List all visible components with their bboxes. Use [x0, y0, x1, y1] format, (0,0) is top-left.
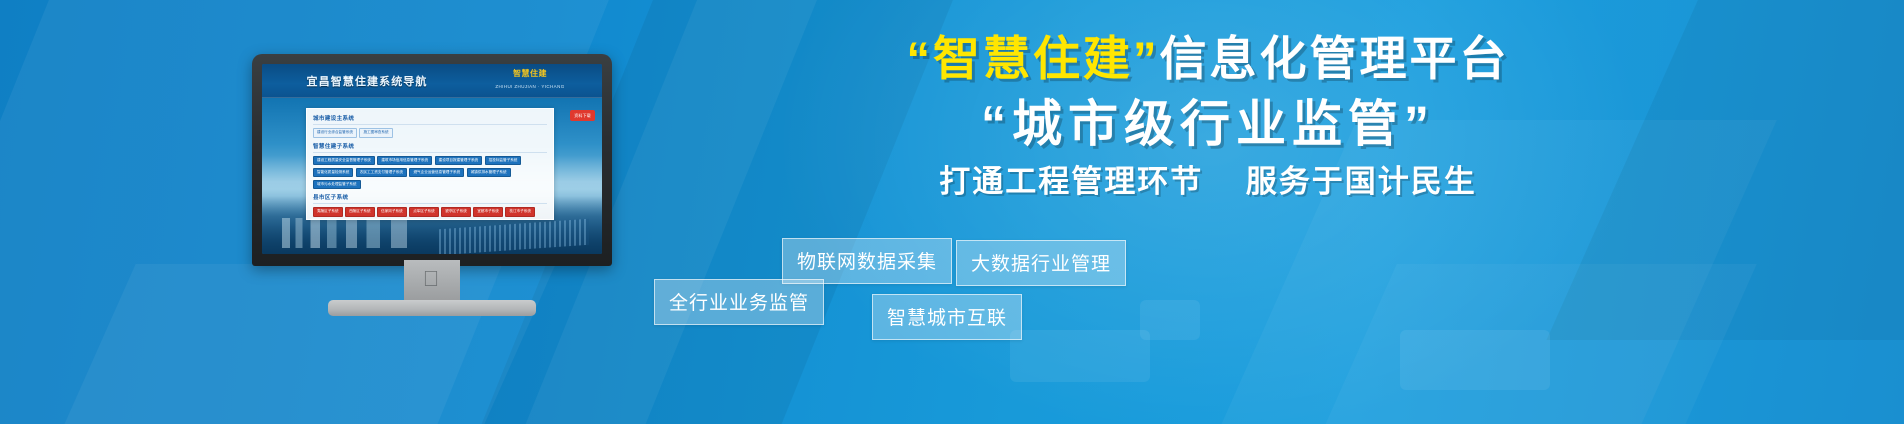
- screen-subsystem-chip[interactable]: 五峰县子系统: [473, 219, 503, 220]
- screen-subsystem-chip[interactable]: 西陵区子系统: [345, 207, 375, 217]
- screen-subsystem-chip[interactable]: 城市污水处理监管子系统: [313, 180, 361, 190]
- feature-tag-iot-data[interactable]: 物联网数据采集: [782, 238, 952, 284]
- screen-download-button[interactable]: 资料下载: [570, 110, 595, 121]
- screen-subsystem-chip[interactable]: 点军区子系统: [409, 207, 439, 217]
- headline-line-3-right: 服务于国计民生: [1246, 164, 1477, 199]
- monitor-stand-base: [328, 300, 536, 316]
- apple-logo-icon: : [420, 268, 442, 292]
- screen-subsystem-chip[interactable]: 宜都市子系统: [473, 207, 503, 217]
- promo-banner: 宜昌智慧住建系统导航 智慧住建 ZHIHUI ZHUJIAN · YICHANG…: [0, 0, 1904, 424]
- screen-subsystem-chip[interactable]: 长阳县子系统: [441, 219, 471, 220]
- monitor-screen: 宜昌智慧住建系统导航 智慧住建 ZHIHUI ZHUJIAN · YICHANG…: [262, 64, 602, 254]
- background-facet: [1263, 264, 1757, 424]
- screen-subsystem-chip[interactable]: 智能化质量检测系统: [313, 168, 353, 178]
- screen-subsystem-chip[interactable]: 兴山县子系统: [377, 219, 407, 220]
- feature-tag-industry-supervision[interactable]: 全行业业务监管: [654, 279, 824, 325]
- screen-subsystem-chip[interactable]: 枝江市子系统: [505, 207, 535, 217]
- headline-quote-close: ”: [1133, 32, 1160, 85]
- screen-subsystem-chip[interactable]: 城镇供排水管理子系统: [467, 168, 511, 178]
- screen-subsystem-chip[interactable]: 夷陵区子系统: [313, 207, 343, 217]
- screen-subsystem-chip[interactable]: 伍家岗子系统: [377, 207, 407, 217]
- background-soft-rect: [1140, 300, 1200, 340]
- screen-subsystem-chip[interactable]: 远安县子系统: [345, 219, 375, 220]
- background-soft-rect: [1010, 330, 1150, 382]
- screen-section-items: 建设行业综合监管系统施工图审查系统: [313, 128, 547, 138]
- background-soft-rect: [1400, 330, 1550, 390]
- screen-subsystem-chip[interactable]: 建筑市场信用信息管理子系统: [377, 156, 432, 166]
- screen-section-items: 夷陵区子系统西陵区子系统伍家岗子系统点军区子系统猇亭区子系统宜都市子系统枝江市子…: [313, 207, 547, 220]
- screen-subsystem-chip[interactable]: 猇亭区子系统: [441, 207, 471, 217]
- screen-sections-list: 城市建设主系统建设行业综合监管系统施工图审查系统智慧住建子系统建设工程质量安全监…: [313, 114, 547, 220]
- screen-section-title: 智慧住建子系统: [313, 142, 547, 153]
- feature-tag-smart-city[interactable]: 智慧城市互联: [872, 294, 1022, 340]
- headline-keyword: 智慧住建: [933, 32, 1133, 85]
- headline-quote-open: “: [907, 32, 934, 85]
- screen-subsystem-chip[interactable]: 建设行业综合监管系统: [313, 128, 357, 138]
- monitor-mockup: 宜昌智慧住建系统导航 智慧住建 ZHIHUI ZHUJIAN · YICHANG…: [252, 54, 612, 304]
- headline-line-3-left: 打通工程管理环节: [939, 164, 1203, 199]
- screen-logo-cn: 智慧住建: [480, 69, 580, 79]
- screen-subsystem-chip[interactable]: 施工图审查系统: [359, 128, 392, 138]
- screen-navigation-panel: 城市建设主系统建设行业综合监管系统施工图审查系统智慧住建子系统建设工程质量安全监…: [306, 108, 554, 220]
- screen-section-title: 城市建设主系统: [313, 114, 547, 125]
- screen-subsystem-chip[interactable]: 建设工程质量安全监督管理子系统: [313, 156, 375, 166]
- headline-block: “智慧住建”信息化管理平台 “城市级行业监管” 打通工程管理环节 服务于国计民生: [648, 34, 1768, 199]
- screen-subsystem-chip[interactable]: 建设项目报建管理子系统: [435, 156, 483, 166]
- headline-line-2: “城市级行业监管”: [648, 97, 1768, 151]
- headline-line-3: 打通工程管理环节 服务于国计民生: [648, 165, 1768, 199]
- screen-logo-en: ZHIHUI ZHUJIAN · YICHANG: [480, 82, 580, 92]
- screen-section-title: 县市区子系统: [313, 193, 547, 204]
- screen-subsystem-chip[interactable]: 招投标监管子系统: [485, 156, 522, 166]
- screen-logo: 智慧住建 ZHIHUI ZHUJIAN · YICHANG: [480, 69, 580, 93]
- screen-subsystem-chip[interactable]: 农民工工资支付管理子系统: [356, 168, 407, 178]
- monitor-bezel: 宜昌智慧住建系统导航 智慧住建 ZHIHUI ZHUJIAN · YICHANG…: [252, 54, 612, 266]
- feature-tag-bigdata-management[interactable]: 大数据行业管理: [956, 240, 1126, 286]
- screen-section-items: 建设工程质量安全监督管理子系统建筑市场信用信息管理子系统建设项目报建管理子系统招…: [313, 156, 547, 190]
- screen-subsystem-chip[interactable]: 当阳市子系统: [313, 219, 343, 220]
- screen-subsystem-chip[interactable]: 燃气企业运营信息管理子系统: [409, 168, 464, 178]
- headline-line-1-rest: 信息化管理平台: [1160, 32, 1510, 85]
- screen-subsystem-chip[interactable]: 秭归县子系统: [409, 219, 439, 220]
- headline-line-1: “智慧住建”信息化管理平台: [648, 34, 1768, 85]
